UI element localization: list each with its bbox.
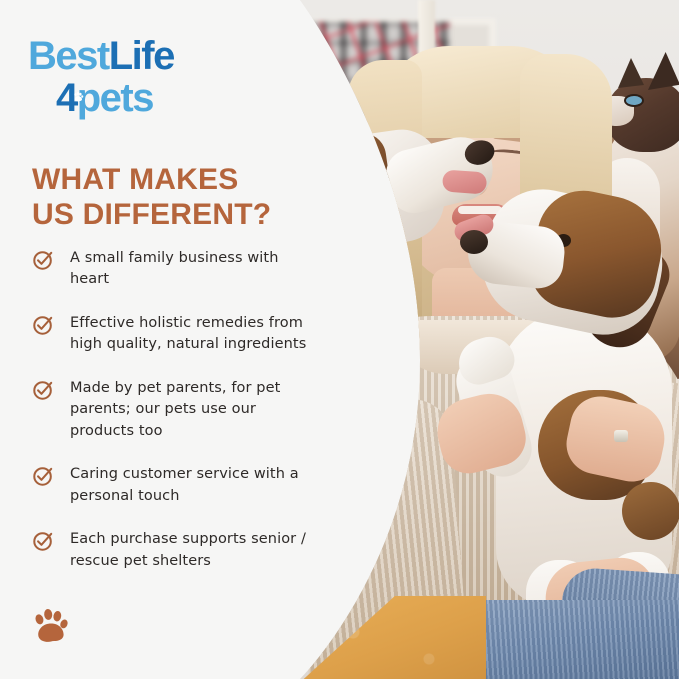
benefits-list: A small family business with heart Effec…	[32, 248, 322, 594]
dog2-rear-patch	[622, 482, 679, 540]
list-item-label: Caring customer service with a personal …	[70, 464, 322, 507]
brand-logo[interactable]: BestLife 4pets	[28, 36, 174, 118]
logo-text-pets: pets	[77, 76, 153, 120]
paw-print-icon	[30, 604, 72, 648]
list-item: Each purchase supports senior / rescue p…	[32, 529, 322, 572]
list-item: A small family business with heart	[32, 248, 322, 291]
logo-text-life: Life	[109, 34, 174, 78]
logo-line-one: BestLife	[28, 36, 174, 76]
cat-ear-left	[648, 52, 679, 90]
list-item: Made by pet parents, for pet parents; ou…	[32, 378, 322, 442]
list-item: Caring customer service with a personal …	[32, 464, 322, 507]
woman-ring	[614, 430, 628, 442]
content-column: BestLife 4pets WHAT MAKES US DIFFERENT?	[0, 0, 330, 679]
headline-line-two: US DIFFERENT?	[32, 198, 271, 233]
check-circle-icon	[32, 314, 54, 336]
check-circle-icon	[32, 249, 54, 271]
promo-poster: BestLife 4pets WHAT MAKES US DIFFERENT?	[0, 0, 679, 679]
cat-eye	[626, 96, 642, 105]
list-item: Effective holistic remedies from high qu…	[32, 313, 322, 356]
paw-print-icon	[72, 91, 85, 103]
dog2-nose	[460, 230, 488, 254]
list-item-label: Each purchase supports senior / rescue p…	[70, 529, 322, 572]
logo-text-best: Best	[28, 34, 109, 78]
dog1-eye	[334, 171, 352, 186]
check-circle-icon	[32, 379, 54, 401]
check-circle-icon	[32, 530, 54, 552]
list-item-label: A small family business with heart	[70, 248, 322, 291]
cat-ear-right	[618, 58, 644, 88]
page-title: WHAT MAKES US DIFFERENT?	[32, 163, 271, 233]
check-circle-icon	[32, 465, 54, 487]
list-item-label: Effective holistic remedies from high qu…	[70, 313, 322, 356]
logo-line-two: 4pets	[56, 78, 174, 118]
list-item-label: Made by pet parents, for pet parents; ou…	[70, 378, 322, 442]
headline-line-one: WHAT MAKES	[32, 163, 271, 198]
